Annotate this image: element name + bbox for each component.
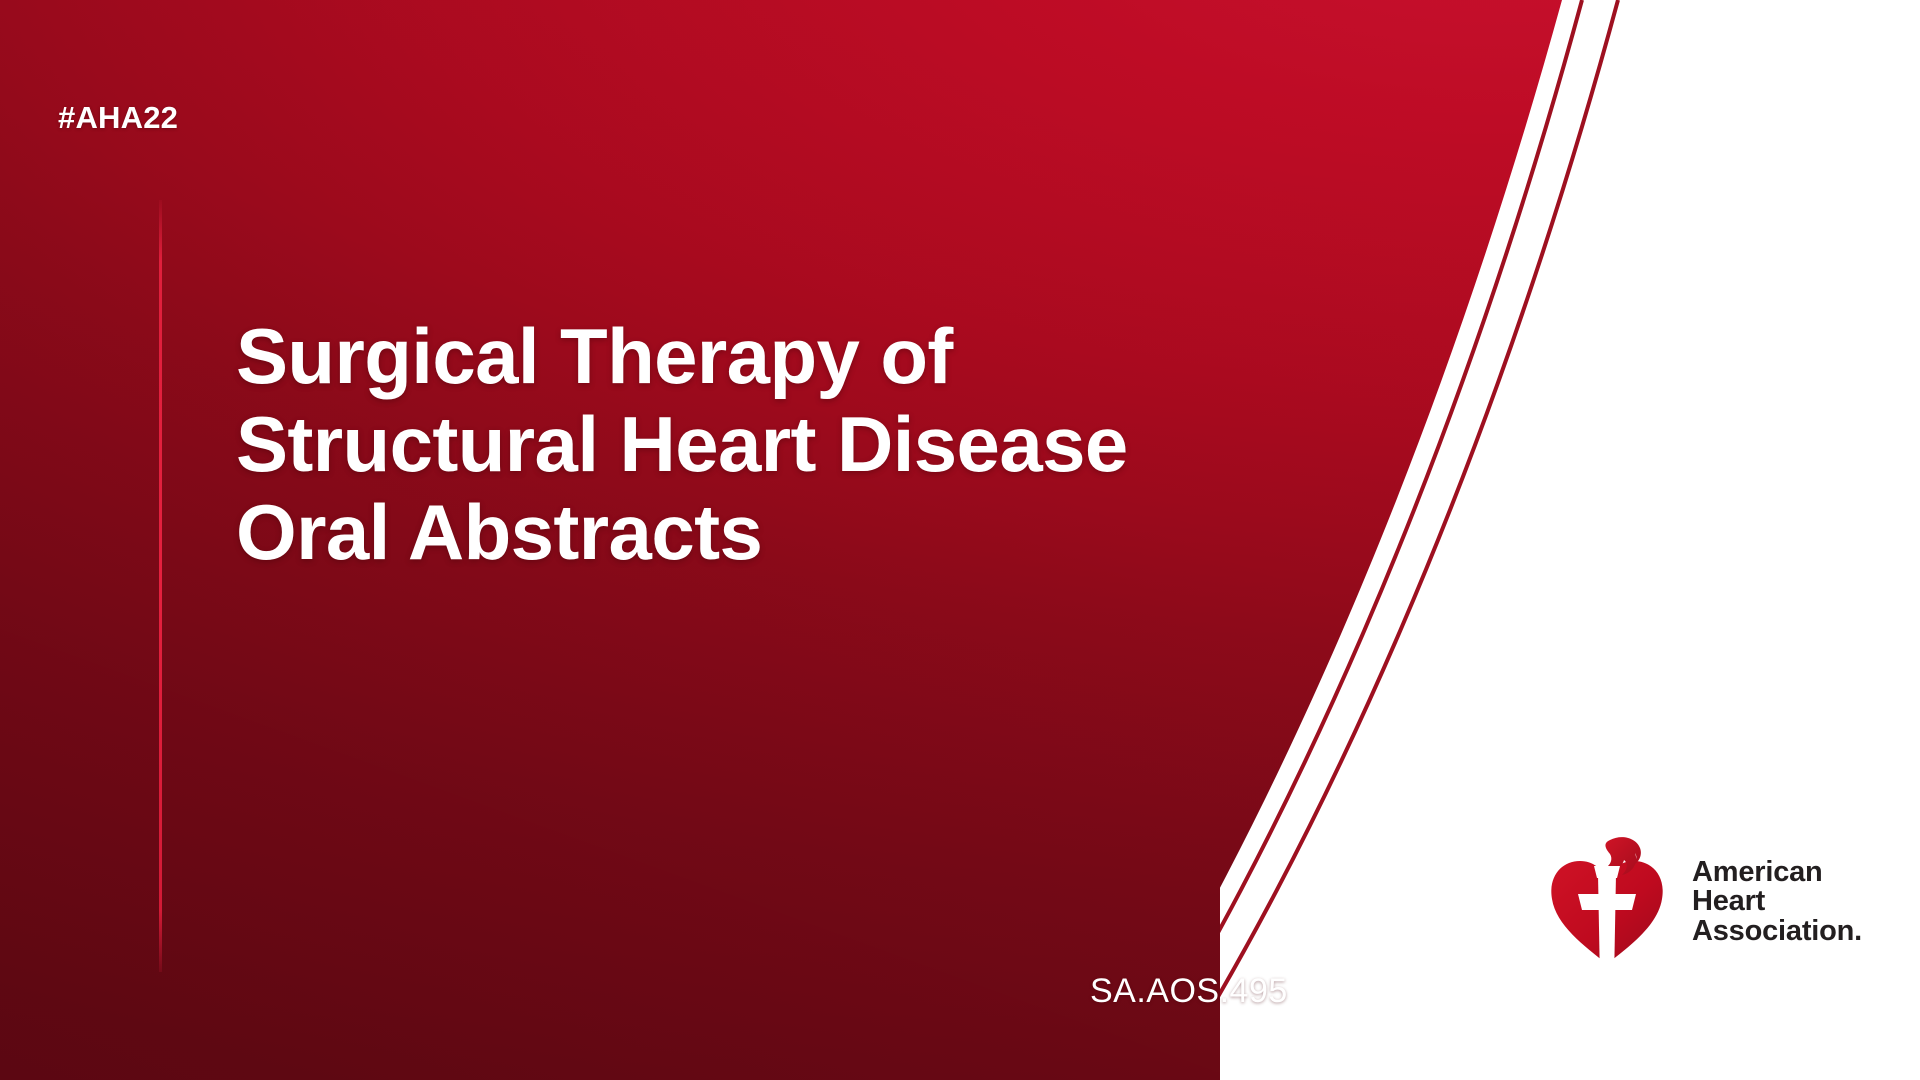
wordmark-line-3: Association. xyxy=(1692,917,1862,947)
aha-wordmark: American Heart Association. xyxy=(1692,858,1862,957)
torch-staff xyxy=(1598,874,1616,982)
title-line-2: Structural Heart Disease xyxy=(236,400,1356,488)
torch-crossbar xyxy=(1578,894,1636,910)
abstract-session-code: SA.AOS.495 xyxy=(1090,972,1288,1011)
aha-heart-torch-icon xyxy=(1548,832,1666,982)
page-title: Surgical Therapy of Structural Heart Dis… xyxy=(236,312,1356,576)
vertical-accent-rule xyxy=(159,200,162,972)
wordmark-line-1: American xyxy=(1692,858,1862,888)
title-line-1: Surgical Therapy of xyxy=(236,312,1356,400)
torch-cup xyxy=(1594,866,1620,878)
aha-logo-lockup: American Heart Association. xyxy=(1548,832,1862,982)
wordmark-line-2: Heart xyxy=(1692,887,1862,917)
title-line-3: Oral Abstracts xyxy=(236,488,1356,576)
event-hashtag: #AHA22 xyxy=(58,100,178,136)
presentation-slide: #AHA22 Surgical Therapy of Structural He… xyxy=(0,0,1920,1080)
